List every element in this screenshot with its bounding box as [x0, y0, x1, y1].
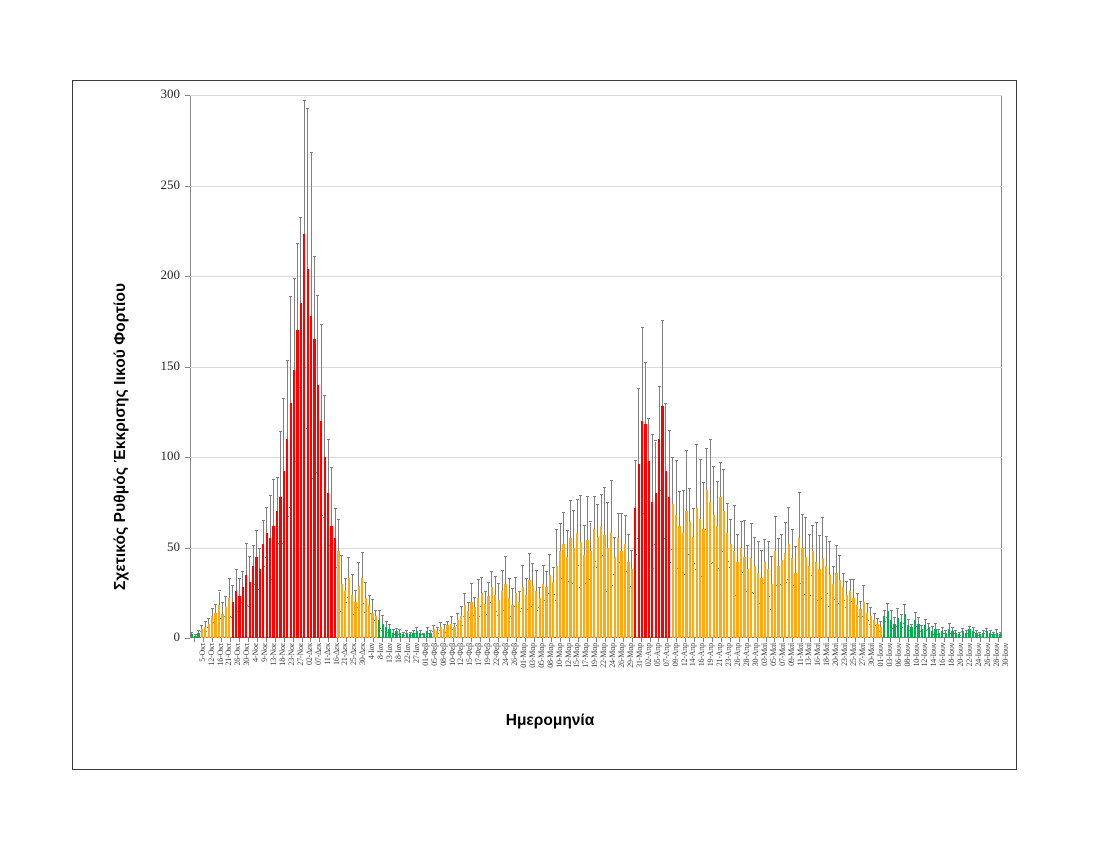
error-bar-cap-upper	[954, 630, 957, 631]
bar	[313, 339, 315, 638]
bar	[494, 595, 496, 638]
error-bar-cap-upper	[501, 570, 504, 571]
x-axis-tick-mark	[194, 638, 195, 642]
error-bar-cap-upper	[525, 578, 528, 579]
error-bar-cap-upper	[276, 477, 279, 478]
bar	[880, 627, 882, 638]
error-bar-cap-upper	[528, 553, 531, 554]
y-axis-tick-label: 200	[138, 267, 180, 283]
error-bar-cap-upper	[398, 629, 401, 630]
bar	[597, 537, 599, 638]
x-axis-tick-mark	[971, 638, 972, 642]
error-bar-cap-upper	[368, 595, 371, 596]
bar	[921, 629, 923, 638]
error-bar-cap-upper	[907, 619, 910, 620]
x-axis-tick-label: 17-Φεβ	[474, 643, 483, 666]
error-bar-cap-upper	[320, 324, 323, 325]
x-axis-tick-label: 05-Μαϊ	[769, 643, 778, 666]
error-bar-cap-upper	[791, 529, 794, 530]
error-bar-cap-upper	[736, 534, 739, 535]
error-bar-cap-upper	[586, 496, 589, 497]
x-axis-tick-label: 22-Ιαν	[403, 643, 412, 663]
error-bar-cap-upper	[600, 494, 603, 495]
bar	[754, 566, 756, 638]
bar	[791, 558, 793, 638]
error-bar-cap-upper	[443, 624, 446, 625]
bar	[385, 627, 387, 638]
error-bar-cap-upper	[910, 624, 913, 625]
bar	[757, 573, 759, 638]
error-bar-cap-upper	[927, 623, 930, 624]
y-axis-tick-label: 100	[138, 448, 180, 464]
x-axis-tick-mark	[248, 638, 249, 642]
error-bar-cap-upper	[876, 618, 879, 619]
bar	[590, 551, 592, 638]
bar	[559, 551, 561, 638]
error-bar-cap-upper	[801, 514, 804, 515]
error-bar-cap-upper	[924, 619, 927, 620]
error-bar-cap-upper	[852, 579, 855, 580]
bar	[228, 598, 230, 638]
bar	[464, 605, 466, 638]
bar	[283, 471, 285, 638]
x-axis-tick-mark	[328, 638, 329, 642]
x-axis-tick-mark	[721, 638, 722, 642]
error-bar-cap-upper	[327, 439, 330, 440]
x-axis-tick-label: 19-Μαρ	[590, 643, 599, 668]
x-axis-tick-label: 07-Δεκ	[314, 643, 323, 665]
error-bar-cap-upper	[675, 460, 678, 461]
error-bar-cap-upper	[606, 502, 609, 503]
error-bar-cap-upper	[944, 630, 947, 631]
error-bar-cap-upper	[378, 610, 381, 611]
bar	[801, 548, 803, 639]
x-axis-tick-mark	[614, 638, 615, 642]
error-bar-cap-upper	[470, 583, 473, 584]
error-bar-cap-upper	[624, 515, 627, 516]
bar	[723, 511, 725, 638]
error-bar-cap-upper	[692, 508, 695, 509]
bar	[668, 497, 670, 638]
bar	[262, 544, 264, 638]
x-axis-title: Ημερομηνία	[0, 712, 1100, 730]
x-axis-tick-label: 05-Απρ	[653, 643, 662, 666]
bar	[351, 595, 353, 638]
x-axis-tick-label: 17-Μαρ	[581, 643, 590, 668]
error-bar-cap-upper	[825, 536, 828, 537]
x-axis-tick-mark	[837, 638, 838, 642]
x-axis-tick-label: 03-Μαρ	[528, 643, 537, 668]
bar	[733, 551, 735, 638]
error-bar-cap-upper	[914, 612, 917, 613]
error-bar-cap-upper	[828, 541, 831, 542]
bar	[968, 629, 970, 638]
error-bar-cap-upper	[412, 630, 415, 631]
error-bar-cap-upper	[487, 582, 490, 583]
error-bar-cap-upper	[337, 519, 340, 520]
x-axis-tick-mark	[596, 638, 597, 642]
error-bar-cap-upper	[323, 395, 326, 396]
bar	[446, 625, 448, 638]
error-bar-cap-upper	[467, 602, 470, 603]
x-axis-tick-mark	[498, 638, 499, 642]
error-bar-cap-upper	[200, 625, 203, 626]
x-axis-tick-label: 28-Απρ	[742, 643, 751, 666]
bar	[907, 625, 909, 638]
error-bar-cap-upper	[866, 603, 869, 604]
error-bar-cap-upper	[753, 537, 756, 538]
x-axis-tick-label: 25-Δεκ	[349, 643, 358, 665]
bar	[204, 627, 206, 638]
bar	[651, 502, 653, 638]
error-bar-cap-upper	[235, 569, 238, 570]
x-axis-tick-label: 14-Ιουν	[929, 643, 938, 667]
bar	[924, 625, 926, 638]
error-bar-cap-upper	[269, 495, 272, 496]
x-axis-tick-mark	[319, 638, 320, 642]
error-bar-cap-upper	[388, 624, 391, 625]
bar	[726, 533, 728, 638]
bar	[948, 629, 950, 638]
bar	[736, 562, 738, 638]
error-bar-cap-upper	[719, 462, 722, 463]
bar	[201, 629, 203, 638]
error-bar-cap-upper	[931, 626, 934, 627]
error-bar-cap-upper	[450, 616, 453, 617]
y-axis-tick-label: 300	[138, 86, 180, 102]
bar	[371, 613, 373, 638]
error-bar-cap-upper	[538, 587, 541, 588]
bar	[620, 551, 622, 638]
error-bar-cap-upper	[480, 577, 483, 578]
x-axis-tick-label: 30-Απρ	[751, 643, 760, 666]
x-axis-tick-mark	[757, 638, 758, 642]
bar	[368, 605, 370, 638]
bar	[890, 620, 892, 638]
bar	[607, 548, 609, 639]
bar	[580, 542, 582, 638]
error-bar-cap-upper	[456, 613, 459, 614]
x-axis-tick-mark	[819, 638, 820, 642]
error-bar-cap-upper	[535, 570, 538, 571]
error-bar-cap-upper	[265, 507, 268, 508]
bar	[341, 584, 343, 638]
x-axis-tick-mark	[212, 638, 213, 642]
error-bar-cap-upper	[603, 487, 606, 488]
error-bar-cap-upper	[760, 550, 763, 551]
error-bar-cap-upper	[514, 577, 517, 578]
x-axis-tick-mark	[828, 638, 829, 642]
bar	[719, 497, 721, 638]
error-bar-cap-upper	[436, 627, 439, 628]
bar	[835, 573, 837, 638]
error-bar-cap-upper	[419, 630, 422, 631]
bar	[818, 569, 820, 638]
error-bar-cap-upper	[856, 593, 859, 594]
x-axis-tick-mark	[685, 638, 686, 642]
error-bar-cap-upper	[951, 627, 954, 628]
error-bar-cap-upper	[371, 599, 374, 600]
bar	[249, 582, 251, 638]
error-bar-cap-upper	[702, 482, 705, 483]
bar	[812, 551, 814, 638]
error-bar-cap-upper	[402, 632, 405, 633]
error-bar-cap-upper	[207, 618, 210, 619]
bar	[245, 575, 247, 638]
x-axis-tick-label: 18-Ιουν	[947, 643, 956, 667]
x-axis-tick-mark	[926, 638, 927, 642]
bar	[552, 582, 554, 638]
error-bar-cap-upper	[231, 585, 234, 586]
x-axis-tick-mark	[712, 638, 713, 642]
bar	[549, 575, 551, 638]
error-bar-cap-upper	[647, 418, 650, 419]
x-axis-tick-label: 05-Μαρ	[537, 643, 546, 668]
bar	[900, 622, 902, 638]
error-bar-cap-upper	[934, 623, 937, 624]
error-bar-cap-upper	[637, 388, 640, 389]
bar	[566, 557, 568, 638]
bar	[887, 611, 889, 638]
x-axis-tick-label: 15-Φεβ	[465, 643, 474, 666]
error-bar-cap-upper	[804, 517, 807, 518]
x-axis-tick-label: 30-Δεκ	[358, 643, 367, 665]
error-bar-cap-upper	[651, 434, 654, 435]
x-axis-tick-mark	[864, 638, 865, 642]
error-bar-cap-upper	[310, 152, 313, 153]
x-axis-tick-label: 26-Οκτ	[233, 643, 242, 666]
x-axis-tick-label: 28-Ιουν	[992, 643, 1001, 667]
error-bar-cap-upper	[463, 593, 466, 594]
x-axis-tick-label: 4-Ιαν	[367, 643, 376, 659]
error-bar-cap-upper	[733, 505, 736, 506]
error-bar-cap-upper	[381, 615, 384, 616]
error-bar-cap-upper	[886, 603, 889, 604]
bar	[214, 613, 216, 638]
x-axis-tick-mark	[489, 638, 490, 642]
bar	[348, 578, 350, 638]
x-axis-tick-mark	[748, 638, 749, 642]
x-axis-tick-mark	[409, 638, 410, 642]
error-bar-cap-upper	[845, 581, 848, 582]
bar	[829, 575, 831, 638]
error-bar-cap-upper	[504, 556, 507, 557]
x-axis-tick-mark	[890, 638, 891, 642]
error-bar-cap-upper	[579, 495, 582, 496]
bar	[310, 316, 312, 638]
bar	[815, 562, 817, 638]
bar	[706, 490, 708, 638]
x-axis-tick-label: 02-Δεκ	[305, 643, 314, 665]
x-axis-tick-mark	[426, 638, 427, 642]
error-bar-cap-upper	[248, 556, 251, 557]
bar	[716, 526, 718, 638]
x-axis-tick-label: 29-Μαρ	[626, 643, 635, 668]
bar	[784, 553, 786, 638]
bar	[300, 303, 302, 638]
error-bar-cap-upper	[289, 296, 292, 297]
x-axis-tick-mark	[801, 638, 802, 642]
error-bar-cap-upper	[252, 545, 255, 546]
x-axis-tick-mark	[676, 638, 677, 642]
x-axis-tick-label: 22-Φεβ	[492, 643, 501, 666]
x-axis-tick-label: 30-Μαϊ	[867, 643, 876, 666]
error-bar-cap-upper	[995, 629, 998, 630]
x-axis-tick-label: 31-Μαρ	[635, 643, 644, 668]
x-axis-tick-mark	[846, 638, 847, 642]
x-axis-tick-label: 02-Απρ	[644, 643, 653, 666]
bar	[972, 631, 974, 638]
error-bar-cap-upper	[873, 613, 876, 614]
bar	[951, 631, 953, 638]
x-axis-tick-label: 16-Απρ	[697, 643, 706, 666]
bar	[689, 522, 691, 638]
x-axis-tick-label: 08-Ιουν	[903, 643, 912, 667]
x-axis-tick-mark	[480, 638, 481, 642]
error-bar-cap-upper	[900, 614, 903, 615]
bar	[678, 526, 680, 638]
bar	[255, 557, 257, 638]
error-bar-cap-upper	[490, 571, 493, 572]
bar	[293, 370, 295, 638]
x-axis-tick-mark	[355, 638, 356, 642]
x-axis-tick-mark	[989, 638, 990, 642]
bar	[593, 529, 595, 638]
error-bar-cap-upper	[241, 571, 244, 572]
bar	[617, 538, 619, 638]
error-bar-cap-upper	[484, 591, 487, 592]
error-bar-cap-upper	[354, 590, 357, 591]
bar	[460, 616, 462, 638]
bar	[805, 557, 807, 638]
error-bar-cap-upper	[859, 601, 862, 602]
bar	[740, 548, 742, 639]
bar	[641, 421, 643, 638]
bar	[562, 544, 564, 638]
bar	[962, 631, 964, 638]
x-axis-tick-label: 18-Νοε	[278, 643, 287, 666]
bar	[750, 558, 752, 638]
bar	[327, 493, 329, 638]
error-bar-cap-upper	[740, 521, 743, 522]
bar	[276, 511, 278, 638]
bar	[388, 629, 390, 638]
x-axis-tick-label: 10-Μαρ	[555, 643, 564, 668]
error-bar-cap-upper	[842, 573, 845, 574]
error-bar-cap-upper	[654, 440, 657, 441]
error-bar-cap-upper	[777, 538, 780, 539]
bar	[685, 511, 687, 638]
error-bar-cap-upper	[282, 398, 285, 399]
error-bar-cap-upper	[511, 588, 514, 589]
x-axis-tick-label: 13-Ιαν	[385, 643, 394, 663]
x-axis-tick-label: 27-Νοε	[296, 643, 305, 666]
bar	[863, 602, 865, 638]
error-bar-cap-upper	[746, 545, 749, 546]
error-bar-cap-upper	[917, 617, 920, 618]
bar	[528, 580, 530, 638]
error-bar-cap-upper	[699, 459, 702, 460]
error-bar-cap-upper	[641, 327, 644, 328]
x-axis-tick-mark	[739, 638, 740, 642]
error-bar-cap-upper	[767, 541, 770, 542]
x-axis-tick-label: 08-Φεβ	[439, 643, 448, 666]
bar	[600, 526, 602, 638]
error-bar-cap-upper	[293, 278, 296, 279]
bar	[556, 566, 558, 638]
x-axis-tick-mark	[587, 638, 588, 642]
error-bar-cap-upper	[589, 521, 592, 522]
bar	[508, 598, 510, 638]
error-bar-cap-upper	[712, 466, 715, 467]
x-axis-tick-label: 5-Οκτ	[198, 643, 207, 662]
bar	[934, 629, 936, 638]
bar	[777, 566, 779, 638]
bar	[914, 620, 916, 638]
bar	[883, 616, 885, 638]
x-axis-tick-labels: 5-Οκτ12-Οκτ16-Οκτ21-Οκτ26-Οκτ30-Οκτ4-Νοε…	[190, 643, 1002, 699]
bar	[337, 551, 339, 638]
bar	[931, 631, 933, 638]
x-axis-tick-label: 01-Μαρ	[519, 643, 528, 668]
bar	[324, 457, 326, 638]
bar	[296, 330, 298, 638]
x-axis-tick-label: 30-Ιουν	[1001, 643, 1010, 667]
error-bar-cap-upper	[545, 571, 548, 572]
x-axis-tick-mark	[944, 638, 945, 642]
error-bar-cap-upper	[542, 565, 545, 566]
bar	[453, 627, 455, 638]
bar	[501, 591, 503, 638]
plot-area	[190, 95, 1002, 638]
bar	[269, 538, 271, 638]
error-bar-cap-upper	[446, 621, 449, 622]
bar	[576, 533, 578, 638]
x-axis-tick-label: 03-Μαϊ	[760, 643, 769, 666]
error-bar-cap-upper	[664, 403, 667, 404]
error-bar-cap-upper	[658, 386, 661, 387]
error-bar-cap-upper	[473, 597, 476, 598]
x-axis-tick-label: 16-Ιουν	[938, 643, 947, 667]
bar	[730, 544, 732, 638]
x-axis-tick-mark	[632, 638, 633, 642]
error-bar-cap-upper	[644, 362, 647, 363]
error-bar-cap-upper	[405, 630, 408, 631]
x-axis-tick-label: 19-Φεβ	[483, 643, 492, 666]
error-bar-cap-upper	[494, 576, 497, 577]
bar	[433, 629, 435, 638]
bar	[675, 515, 677, 638]
bar	[661, 406, 663, 638]
error-bar-cap-upper	[661, 320, 664, 321]
error-bar-cap-upper	[770, 556, 773, 557]
error-bar-cap-upper	[218, 590, 221, 591]
x-axis-tick-label: 27-Μαϊ	[858, 643, 867, 666]
error-bar-cap-upper	[190, 632, 193, 633]
bar	[696, 508, 698, 638]
error-bar-cap-upper	[351, 574, 354, 575]
bar	[344, 591, 346, 638]
x-axis-tick-label: 24-Ιουν	[974, 643, 983, 667]
bar	[774, 551, 776, 638]
bar	[395, 631, 397, 638]
x-axis-tick-label: 22-Μαρ	[599, 643, 608, 668]
bar	[477, 598, 479, 638]
bar	[866, 613, 868, 638]
error-bar-cap-upper	[961, 628, 964, 629]
x-axis-tick-label: 20-Μαϊ	[831, 643, 840, 666]
x-axis-tick-mark	[507, 638, 508, 642]
